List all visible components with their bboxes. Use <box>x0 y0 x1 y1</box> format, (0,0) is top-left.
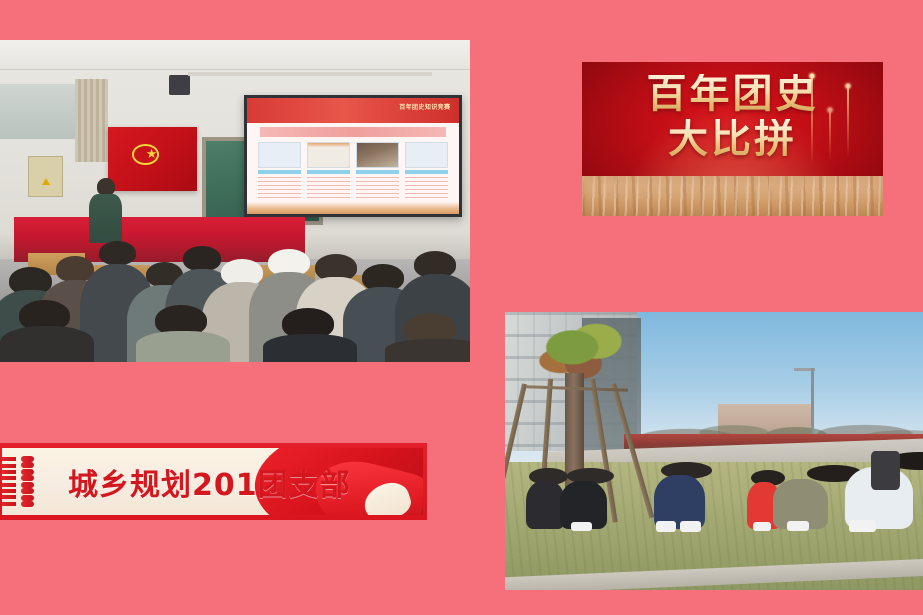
photo-classroom-lecture: ★ 百年团史知识竞赛 <box>0 40 470 362</box>
dash-mark <box>2 457 16 461</box>
person-shoe <box>571 522 593 532</box>
backpack-body <box>871 451 901 490</box>
projection-screen: 百年团史知识竞赛 <box>244 95 462 217</box>
poster-canvas: ★ 百年团史知识竞赛 <box>0 0 923 615</box>
dash-mark <box>21 495 34 501</box>
person-shoe <box>787 521 809 531</box>
dash-mark <box>2 483 16 487</box>
person-shoe <box>656 521 676 532</box>
warning-triangle-icon <box>42 178 50 185</box>
dash-mark <box>2 464 16 468</box>
banner-text-block: 百年团史 大比拼 <box>582 74 883 160</box>
audience-shoulders <box>0 326 94 362</box>
classroom-curtain <box>75 79 108 163</box>
slide-column-bar <box>307 170 350 175</box>
slide-footer <box>247 202 459 214</box>
dash-mark <box>2 476 16 480</box>
person-shoe <box>753 522 771 531</box>
dash-column-right <box>21 448 34 515</box>
person-shoe <box>849 520 876 532</box>
slide-column <box>307 142 350 202</box>
dash-mark <box>21 482 34 488</box>
dash-column-left <box>2 448 16 515</box>
slide-column <box>405 142 448 202</box>
slide-column-text <box>258 177 301 200</box>
slide-column <box>258 142 301 202</box>
slide-column-image <box>307 142 350 168</box>
department-label: 城乡规划201团支部 <box>68 460 351 504</box>
audience-shoulders <box>136 331 230 362</box>
photo-outdoor-volunteering <box>505 312 923 590</box>
slide-column-bar <box>258 170 301 175</box>
slide-column-text <box>307 177 350 200</box>
dash-mark <box>21 488 34 494</box>
dash-mark <box>2 489 16 493</box>
slide-column-text <box>356 177 399 200</box>
dash-mark <box>21 456 34 462</box>
classroom-ceiling <box>0 40 470 70</box>
dash-mark <box>21 475 34 481</box>
banner-department-label: 城乡规划201团支部 <box>0 443 427 520</box>
slide-columns <box>258 142 448 202</box>
banner-hundred-years-league-history: 百年团史 大比拼 <box>582 62 883 216</box>
dash-mark <box>21 462 34 468</box>
dash-mark <box>2 502 16 506</box>
slide-subtitle-bar <box>260 127 446 137</box>
wall-speaker-icon <box>169 75 190 94</box>
slide-column <box>356 142 399 202</box>
banner-plate: 城乡规划201团支部 <box>2 448 423 515</box>
slide-column-bar <box>356 170 399 175</box>
dash-mark <box>21 501 34 507</box>
volunteer-backpack <box>871 451 901 490</box>
slide-column-image <box>356 142 399 168</box>
dash-mark <box>21 469 34 475</box>
electrical-panel <box>28 156 63 197</box>
slide-title: 百年团史知识竞赛 <box>399 102 450 111</box>
volunteer-person <box>560 468 607 529</box>
volunteer-person <box>773 465 828 529</box>
flag-emblem: ★ <box>132 144 159 165</box>
dash-mark <box>2 495 16 499</box>
audience-shoulders <box>263 334 357 362</box>
audience-head <box>183 246 221 270</box>
slide-column-image <box>258 142 301 168</box>
volunteer-person <box>654 462 705 529</box>
person-shoe <box>680 521 700 532</box>
audience-head <box>99 241 137 265</box>
banner-line-1: 百年团史 <box>582 74 883 115</box>
slide-column-image <box>405 142 448 168</box>
slide-column-bar <box>405 170 448 175</box>
audience-shoulders <box>385 339 470 362</box>
person-body <box>526 481 564 529</box>
ceiling-pipe <box>188 72 432 76</box>
volunteer-person <box>526 468 564 529</box>
slide-column-text <box>405 177 448 200</box>
banner-line-2: 大比拼 <box>582 119 883 160</box>
dash-mark <box>2 470 16 474</box>
banner-wood-floor <box>582 176 883 216</box>
audience-area <box>0 233 470 362</box>
